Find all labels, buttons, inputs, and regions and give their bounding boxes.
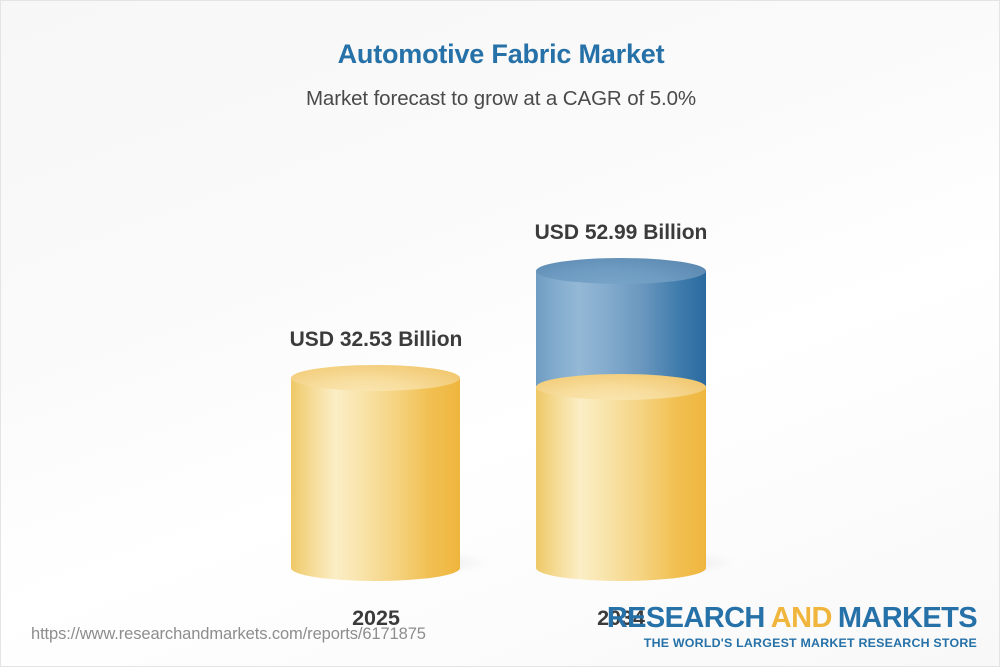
bar-cylinder-2034[interactable]: [536, 258, 706, 568]
cylinder-body-2025: [291, 378, 460, 568]
plot-area: USD 32.53 Billion 2025 USD 52.99 Billion: [1, 1, 1000, 601]
bar-group-2034: USD 52.99 Billion 2034: [471, 168, 771, 568]
cylinder-segment-divider-ellipse-2034: [536, 374, 706, 400]
report-url[interactable]: https://www.researchandmarkets.com/repor…: [31, 625, 426, 644]
cylinder-top-ellipse-2025: [291, 365, 460, 391]
cylinder-top-ellipse-2034: [536, 258, 706, 284]
infographic-chart-card: Automotive Fabric Market Market forecast…: [0, 0, 1000, 667]
logo-word-and: AND: [771, 602, 832, 634]
cylinder-body-upper-blue-2034: [536, 271, 706, 387]
logo-tagline: THE WORLD'S LARGEST MARKET RESEARCH STOR…: [607, 636, 977, 650]
bar-value-label-2034: USD 52.99 Billion: [471, 221, 771, 245]
research-and-markets-logo[interactable]: RESEARCHANDMARKETS THE WORLD'S LARGEST M…: [607, 603, 977, 650]
cylinder-body-lower-yellow-2034: [536, 387, 706, 568]
bar-cylinder-2025[interactable]: [291, 365, 460, 568]
logo-wordmark: RESEARCHANDMARKETS: [607, 603, 977, 633]
logo-word-research: RESEARCH: [607, 602, 765, 634]
logo-word-markets: MARKETS: [838, 602, 977, 634]
